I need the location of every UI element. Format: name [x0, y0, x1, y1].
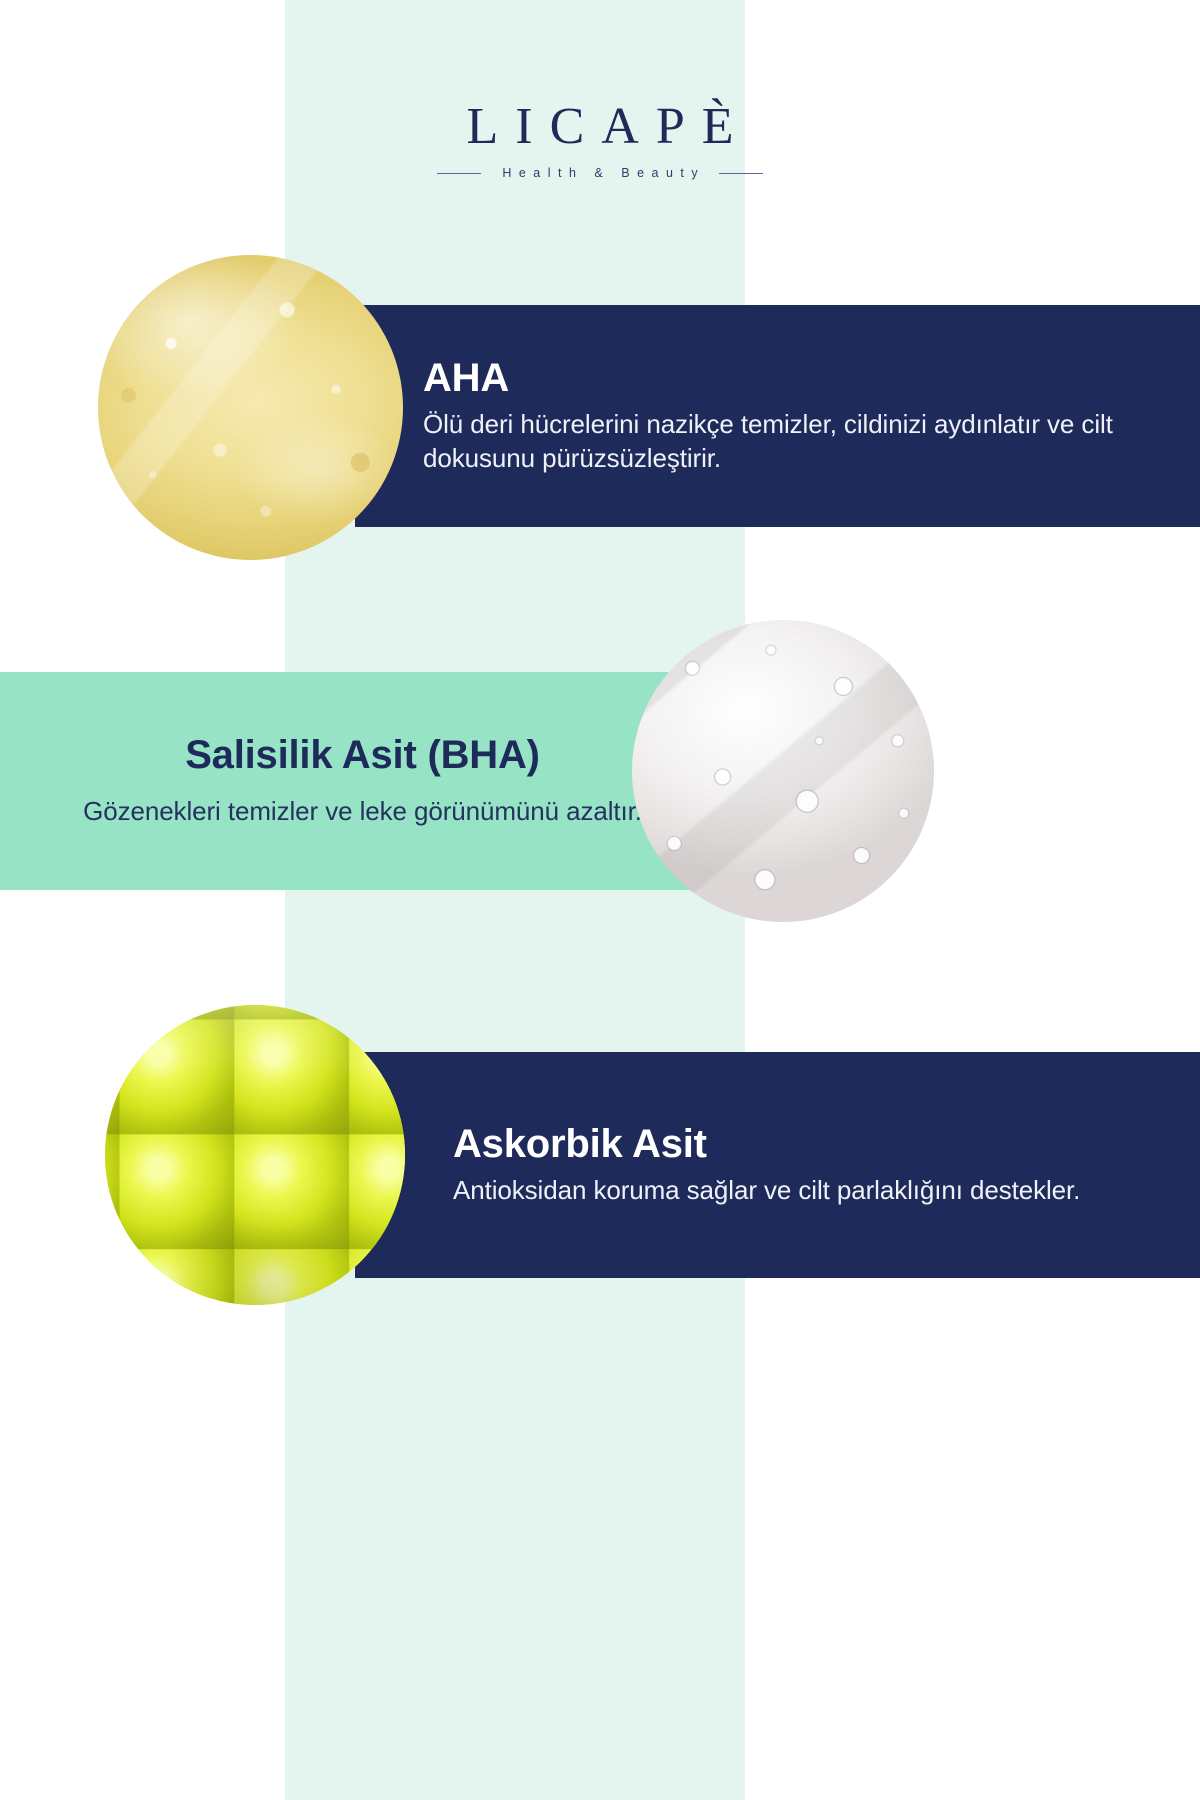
card-aha-text: AHA Ölü deri hücrelerini nazikçe temizle…	[355, 356, 1200, 476]
yellow-cream-texture-photo	[98, 255, 403, 560]
gel-texture-fill	[632, 620, 934, 922]
card-ascorbic: Askorbik Asit Antioksidan koruma sağlar …	[355, 1052, 1200, 1278]
card-ascorbic-body: Antioksidan koruma sağlar ve cilt parlak…	[453, 1173, 1170, 1208]
card-ascorbic-text: Askorbik Asit Antioksidan koruma sağlar …	[355, 1122, 1200, 1207]
brand-wordmark: LICAPÈ	[0, 96, 1200, 157]
rule-right-icon	[719, 173, 763, 175]
card-aha-body: Ölü deri hücrelerini nazikçe temizler, c…	[423, 407, 1170, 476]
clear-gel-bubbles-photo	[632, 620, 934, 922]
rule-left-icon	[437, 173, 481, 175]
brand-logo: LICAPÈ Health & Beauty	[0, 96, 1200, 180]
card-bha-body: Gözenekleri temizler ve leke görünümünü …	[40, 794, 685, 829]
spheres-shading-overlay	[105, 1005, 405, 1305]
card-bha-title: Salisilik Asit (BHA)	[40, 733, 685, 778]
brand-tagline-row: Health & Beauty	[0, 166, 1200, 180]
card-aha-title: AHA	[423, 356, 1170, 401]
brand-tagline: Health & Beauty	[495, 166, 705, 180]
cream-texture-fill	[98, 255, 403, 560]
yellow-spheres-photo	[105, 1005, 405, 1305]
card-ascorbic-title: Askorbik Asit	[453, 1122, 1170, 1167]
card-aha: AHA Ölü deri hücrelerini nazikçe temizle…	[355, 305, 1200, 527]
